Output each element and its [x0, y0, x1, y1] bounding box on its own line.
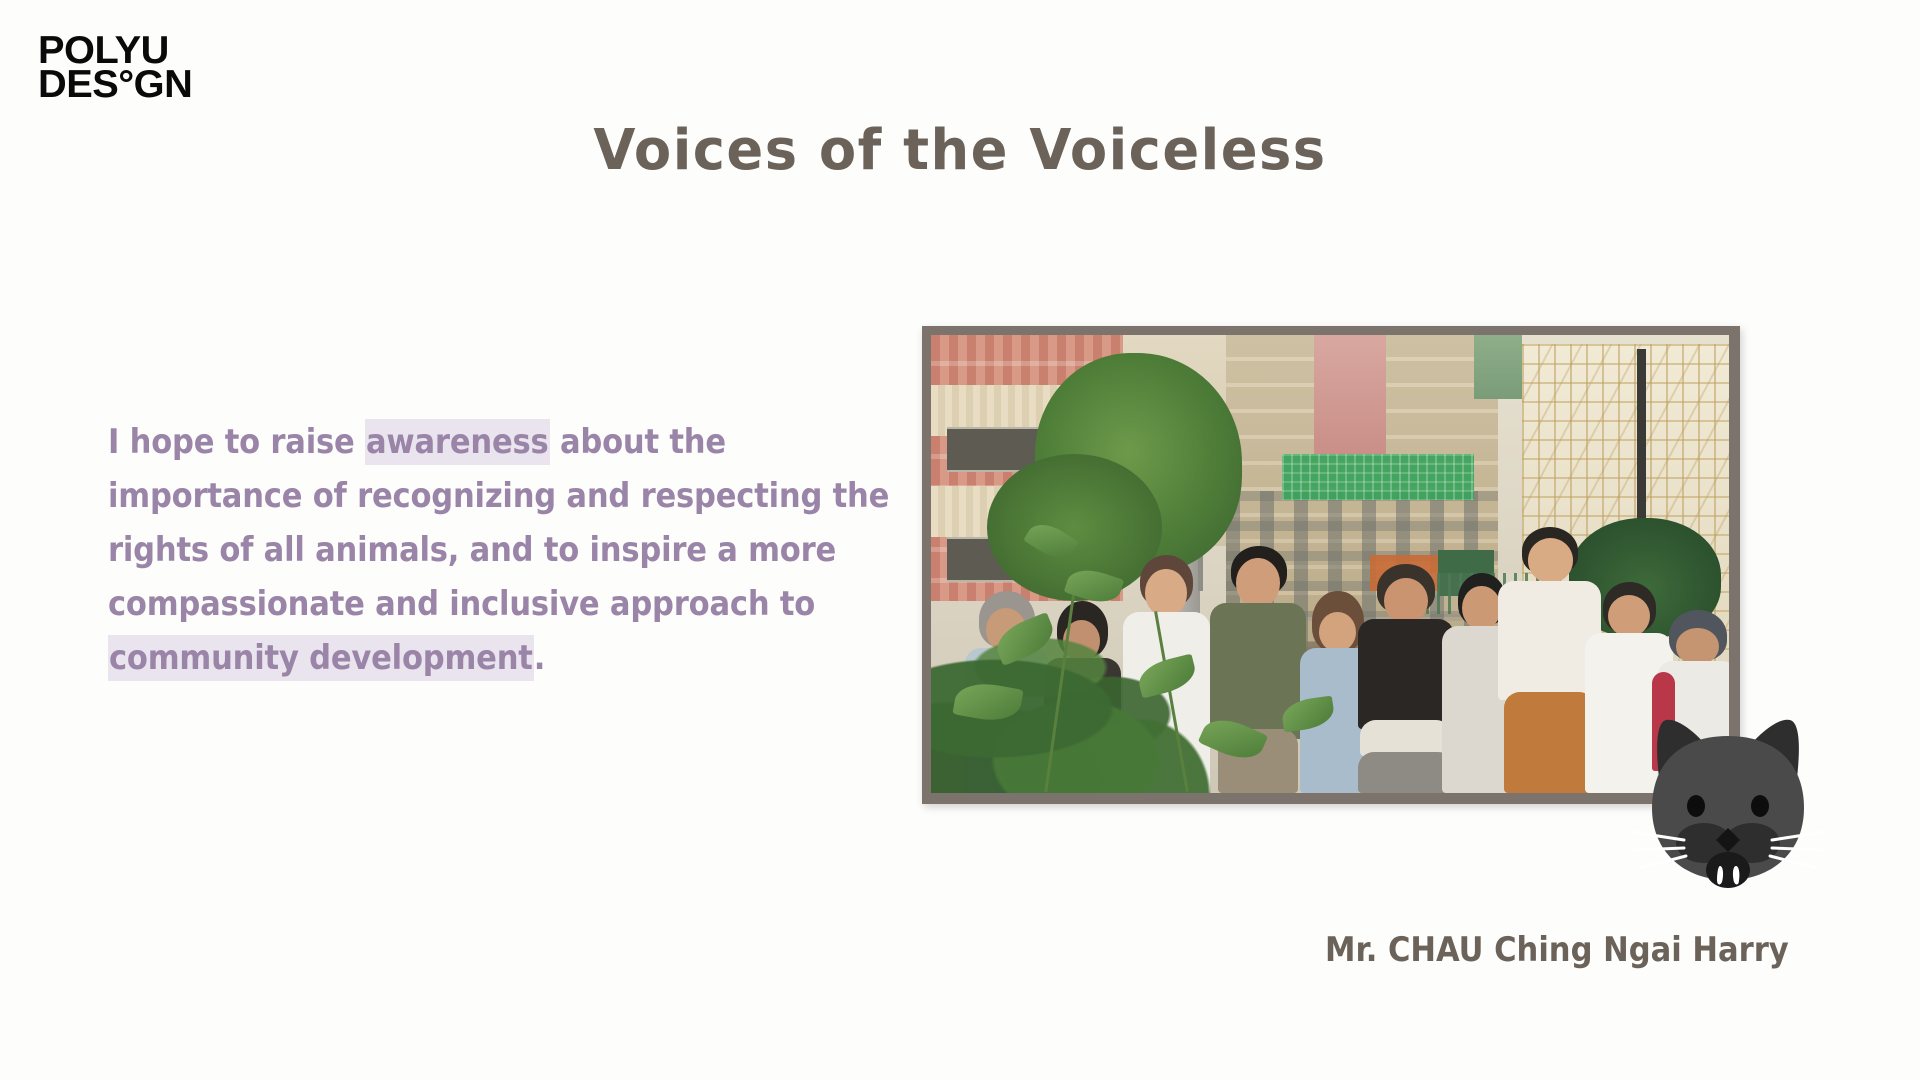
slide-canvas: POLYU DES°GN Voices of the Voiceless I h… [0, 0, 1920, 1080]
quote-highlight: awareness [365, 419, 550, 465]
quote-highlight: community development [108, 635, 534, 681]
photo-green-scaffold-netting [1282, 454, 1474, 500]
photo-pink-tenement [1314, 335, 1386, 454]
quote-segment: I hope to raise [108, 422, 365, 462]
cat-face-icon [1628, 700, 1828, 900]
logo-line-design: DES°GN [38, 68, 192, 102]
speaker-attribution: Mr. CHAU Ching Ngai Harry [1325, 930, 1789, 970]
quote-text: I hope to raise awareness about the impo… [108, 415, 908, 685]
photo-frame [922, 326, 1740, 804]
quote-segment: . [534, 638, 545, 678]
photo-green-tenement [1474, 335, 1522, 399]
community-walk-photograph [931, 335, 1729, 793]
page-title: Voices of the Voiceless [29, 118, 1891, 183]
photo-person [1358, 564, 1454, 793]
polyu-design-logo: POLYU DES°GN [38, 34, 192, 103]
